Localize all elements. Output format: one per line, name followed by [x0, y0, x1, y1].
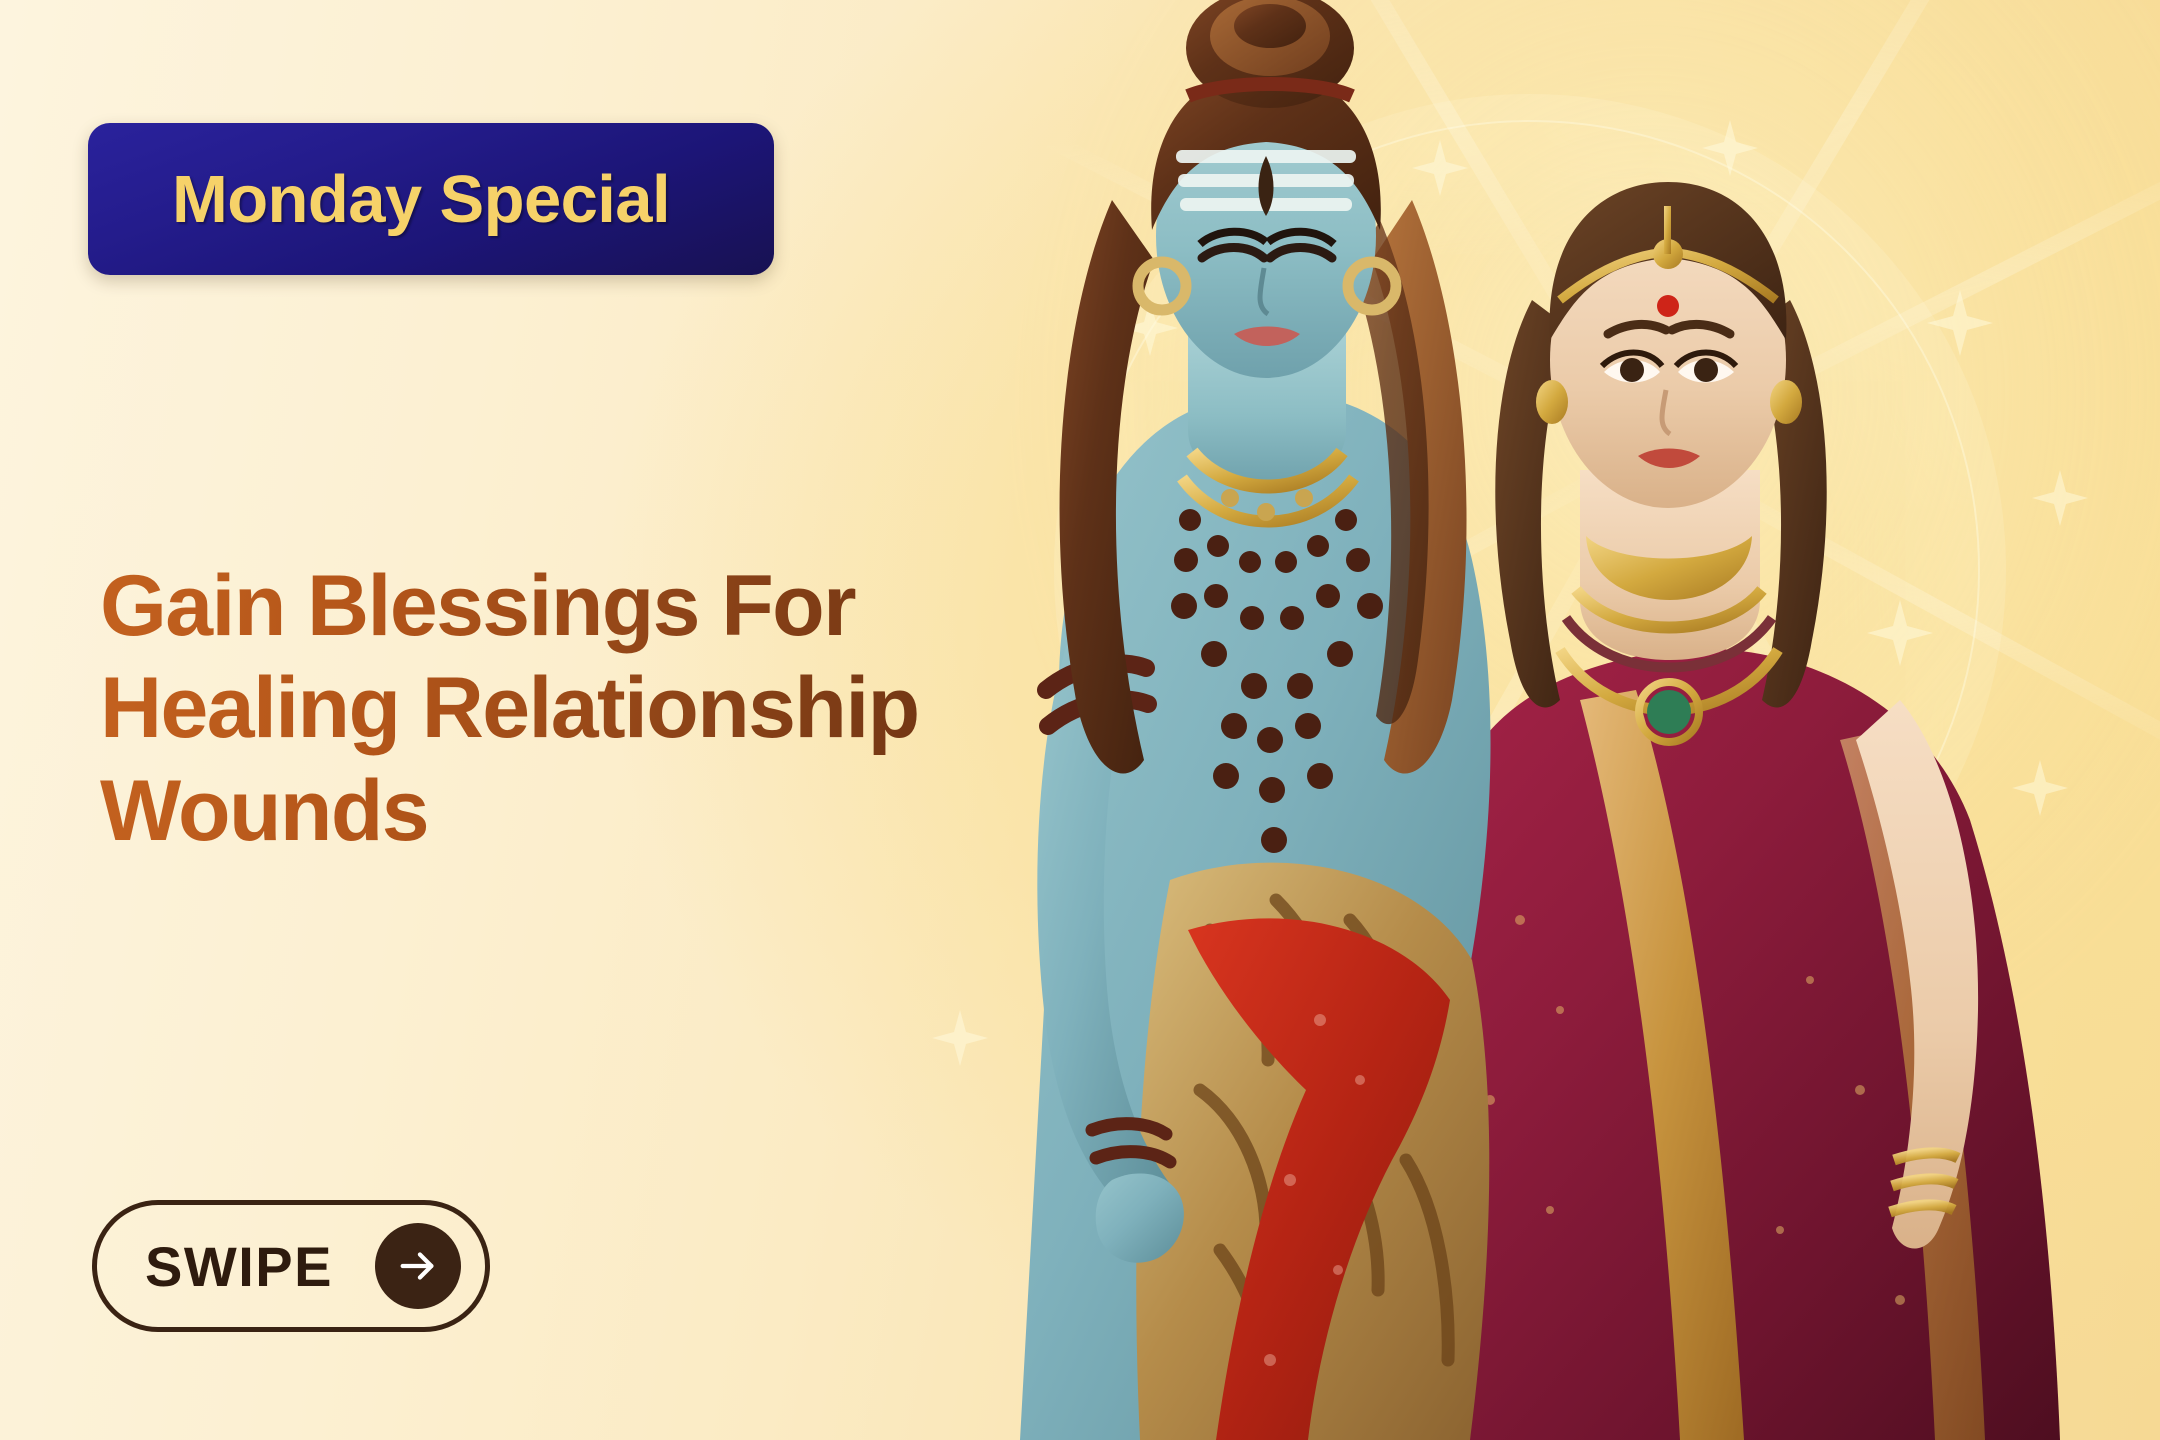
slide-canvas: Monday Special Gain Blessings For Healin… [0, 0, 2160, 1440]
goddess-parvati [1392, 182, 2060, 1440]
swipe-button-label: SWIPE [145, 1234, 333, 1299]
headline-line-3: Wounds [100, 760, 980, 862]
lord-shiva [1020, 0, 1491, 1440]
arrow-right-icon[interactable] [375, 1223, 461, 1309]
shiva-parvati-illustration [1020, 0, 2160, 1440]
swipe-button[interactable]: SWIPE [92, 1200, 490, 1332]
badge-label: Monday Special [172, 161, 670, 238]
page-title: Gain Blessings For Healing Relationship … [100, 555, 980, 862]
headline-line-1: Gain Blessings For [100, 555, 980, 657]
headline-line-2: Healing Relationship [100, 657, 980, 759]
monday-special-badge: Monday Special [88, 123, 774, 275]
